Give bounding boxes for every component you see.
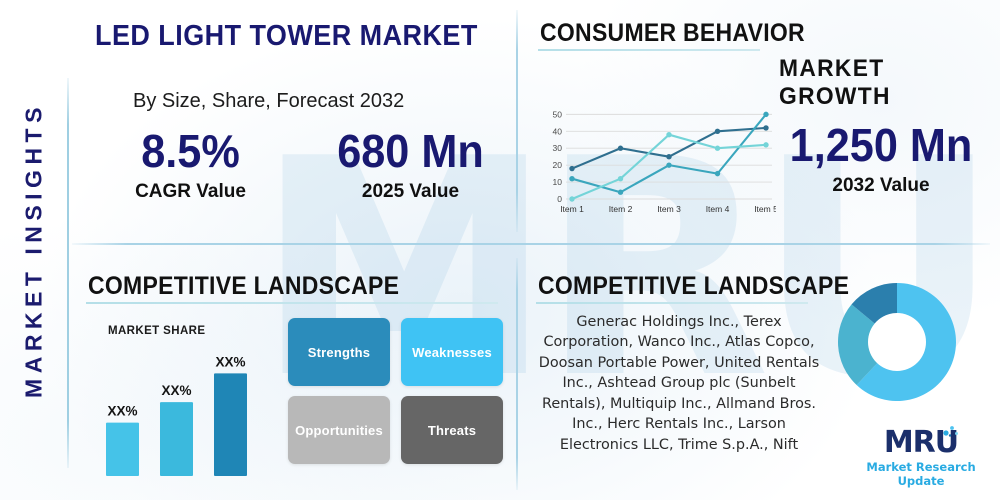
rail-label: MARKET INSIGHTS bbox=[21, 102, 48, 398]
svg-text:Item 5: Item 5 bbox=[754, 204, 776, 214]
swot-cell-weaknesses[interactable]: Weaknesses bbox=[401, 318, 503, 386]
section-heading-competitive-landscape-left: COMPETITIVE LANDSCAPE bbox=[88, 272, 399, 301]
kpi-2032-value: 1,250 Mn bbox=[777, 122, 986, 168]
svg-text:Item 1: Item 1 bbox=[560, 204, 584, 214]
infographic-canvas: MRU MARKET INSIGHTS LED LIGHT TOWER MARK… bbox=[0, 0, 1000, 500]
swot-cell-label: Weaknesses bbox=[412, 345, 492, 360]
section-heading-competitive-landscape-right: COMPETITIVE LANDSCAPE bbox=[538, 272, 849, 301]
line-chart-y-axis-labels: 01020304050 bbox=[553, 109, 563, 204]
line-chart-x-axis-labels: Item 1Item 2Item 3Item 4Item 5 bbox=[560, 204, 776, 214]
svg-text:Item 4: Item 4 bbox=[706, 204, 730, 214]
swot-cell-label: Opportunities bbox=[295, 423, 383, 438]
logo-tagline: Market Research Update bbox=[852, 460, 990, 488]
kpi-2025-value: 680 Mn bbox=[324, 128, 498, 174]
donut-hole bbox=[868, 313, 926, 371]
svg-text:XX%: XX% bbox=[161, 383, 191, 398]
market-share-bar-chart: XX%XX%XX% bbox=[92, 318, 282, 478]
svg-text:0: 0 bbox=[557, 194, 562, 204]
swot-cell-label: Strengths bbox=[308, 345, 370, 360]
page-title: LED LIGHT TOWER MARKET bbox=[95, 20, 478, 53]
swot-cell-strengths[interactable]: Strengths bbox=[288, 318, 390, 386]
logo-bubbles-icon bbox=[941, 422, 961, 438]
svg-text:20: 20 bbox=[553, 160, 563, 170]
market-segment-donut-chart bbox=[838, 283, 956, 401]
svg-text:30: 30 bbox=[553, 143, 563, 153]
svg-text:XX%: XX% bbox=[107, 404, 137, 419]
svg-text:40: 40 bbox=[553, 126, 563, 136]
section-rule-competitive-landscape-left bbox=[86, 302, 498, 304]
section-rule-competitive-landscape-right bbox=[536, 302, 808, 304]
kpi-cagr-caption: CAGR Value bbox=[108, 181, 273, 203]
mru-logo: MRU Market Research Update bbox=[852, 428, 990, 488]
kpi-cagr: 8.5% CAGR Value bbox=[108, 128, 273, 203]
section-rule-consumer-behavior bbox=[538, 49, 760, 51]
page-subtitle: By Size, Share, Forecast 2032 bbox=[133, 90, 404, 113]
section-heading-market-growth: MARKET GROWTH bbox=[779, 55, 989, 111]
svg-text:Item 3: Item 3 bbox=[657, 204, 681, 214]
swot-cell-threats[interactable]: Threats bbox=[401, 396, 503, 464]
logo-wordmark: MRU bbox=[884, 428, 958, 458]
rail-divider bbox=[67, 78, 69, 468]
svg-text:XX%: XX% bbox=[215, 354, 245, 369]
kpi-2032: 1,250 Mn 2032 Value bbox=[770, 122, 992, 197]
svg-text:50: 50 bbox=[553, 109, 563, 119]
svg-text:Item 2: Item 2 bbox=[609, 204, 633, 214]
swot-cell-opportunities[interactable]: Opportunities bbox=[288, 396, 390, 464]
vertical-divider-top bbox=[516, 10, 518, 232]
kpi-2032-caption: 2032 Value bbox=[770, 175, 992, 197]
swot-matrix: StrengthsWeaknessesOpportunitiesThreats bbox=[288, 318, 503, 464]
market-insights-rail: MARKET INSIGHTS bbox=[0, 0, 68, 500]
kpi-cagr-value: 8.5% bbox=[113, 128, 268, 174]
horizontal-divider bbox=[72, 243, 990, 245]
swot-cell-label: Threats bbox=[428, 423, 476, 438]
vertical-divider-bottom bbox=[516, 258, 518, 490]
company-list: Generac Holdings Inc., Terex Corporation… bbox=[533, 312, 825, 455]
kpi-2025-caption: 2025 Value bbox=[318, 181, 503, 203]
line-chart-series bbox=[569, 112, 768, 202]
section-heading-consumer-behavior: CONSUMER BEHAVIOR bbox=[540, 19, 805, 48]
kpi-2025: 680 Mn 2025 Value bbox=[318, 128, 503, 203]
consumer-behavior-line-chart: 01020304050 Item 1Item 2Item 3Item 4Item… bbox=[540, 103, 776, 223]
svg-text:10: 10 bbox=[553, 177, 563, 187]
